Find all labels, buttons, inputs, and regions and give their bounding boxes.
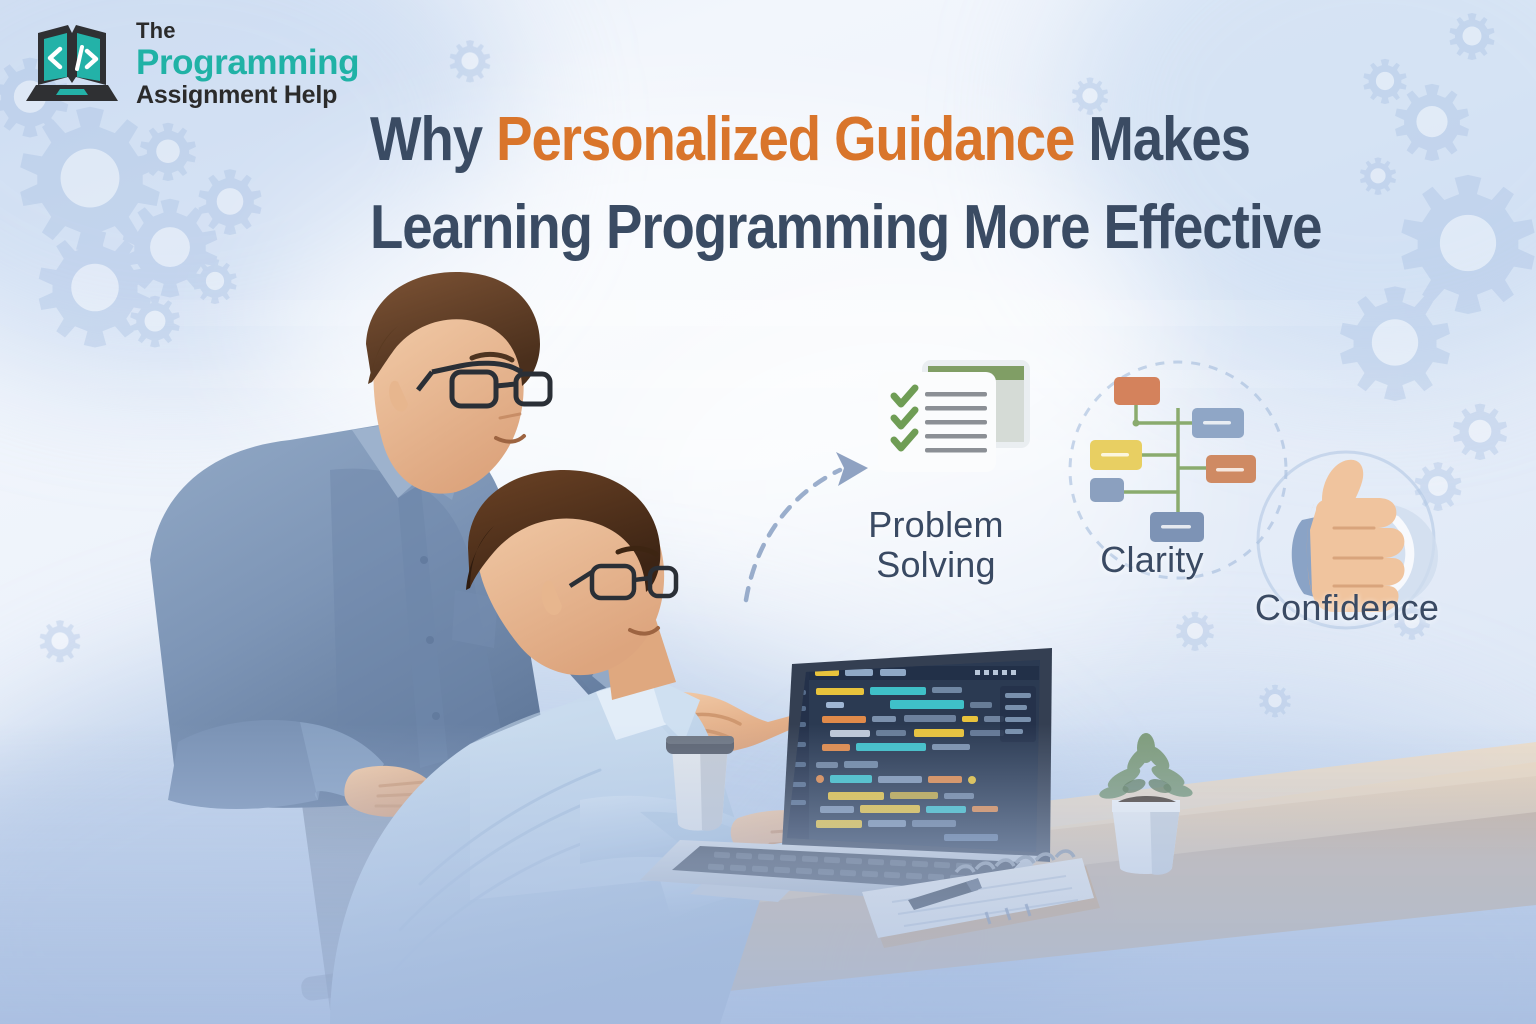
- mentor-glasses: [418, 363, 550, 406]
- bottom-fade: [0, 724, 1536, 1024]
- bg-wash: [0, 624, 1080, 1024]
- poster-canvas: The Programming Assignment Help Why Pers…: [0, 0, 1536, 1024]
- wooden-desk: [420, 742, 1536, 1024]
- bg-streak: [0, 370, 1536, 388]
- mentor-standing: [150, 272, 798, 817]
- potted-plant: [1098, 733, 1194, 875]
- student-left-hand: [731, 810, 853, 863]
- headline-pre: Why: [370, 105, 496, 174]
- brand-wordmark: The Programming Assignment Help: [136, 18, 359, 108]
- brand-logo[interactable]: The Programming Assignment Help: [22, 18, 359, 108]
- headline-line-2: Learning Programming More Effective: [370, 184, 1259, 272]
- laptop-code-book-icon: [22, 19, 122, 107]
- brand-line-the: The: [136, 20, 359, 42]
- pen: [908, 878, 982, 910]
- bg-wash: [620, 300, 1180, 680]
- student-glasses: [570, 566, 676, 598]
- bg-streak: [0, 440, 1536, 470]
- bg-wash: [756, 704, 1536, 1024]
- page-title: Why Personalized Guidance Makes Learning…: [370, 96, 1380, 272]
- infographic-label-clarity: Clarity: [1082, 540, 1222, 580]
- brand-line-programming: Programming: [136, 45, 359, 80]
- office-chair: [300, 742, 630, 1010]
- headline-accent: Personalized Guidance: [496, 105, 1074, 174]
- headline-post: Makes: [1074, 105, 1250, 174]
- mentor-pointing-hand: [630, 692, 798, 753]
- mentor-left-hand: [344, 766, 433, 817]
- spiral-binding: [956, 851, 1074, 872]
- student-right-hand: [840, 829, 964, 886]
- infographic-label-confidence: Confidence: [1232, 588, 1462, 628]
- checkmarks: [894, 388, 915, 448]
- laptop-with-code-editor: [640, 648, 1060, 906]
- coffee-cup: [666, 736, 734, 831]
- checklist-card-icon: [878, 360, 1030, 472]
- spiral-notepad: [862, 851, 1100, 948]
- code-editor-screen: [780, 650, 1060, 870]
- brand-line-assignment-help: Assignment Help: [136, 83, 359, 108]
- headline-line-1: Why Personalized Guidance Makes: [370, 96, 1259, 184]
- bg-streak: [0, 300, 1536, 326]
- infographic-label-problem-solving: Problem Solving: [846, 505, 1026, 586]
- wristwatch: [612, 672, 666, 726]
